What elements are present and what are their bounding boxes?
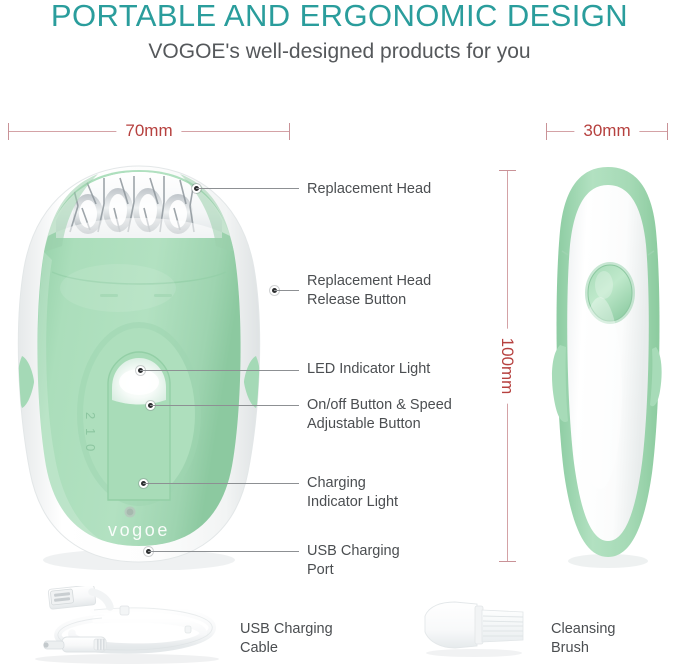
dimension-label-70mm: 70mm bbox=[116, 120, 181, 142]
brush-handle bbox=[425, 602, 477, 648]
callout-line-onoff-speed bbox=[150, 405, 299, 406]
callout-line-replacement-head bbox=[196, 188, 299, 189]
cable-shadow bbox=[35, 654, 219, 664]
brush-shadow bbox=[426, 649, 522, 657]
side-release-tab-left[interactable] bbox=[552, 345, 568, 422]
callout-label-led-indicator: LED Indicator Light bbox=[307, 360, 430, 379]
page-subtitle: VOGOE's well-designed products for you bbox=[0, 40, 679, 64]
speed-scale: 2 1 0 bbox=[83, 412, 98, 451]
accessory-label-usb-cable: USB Charging Cable bbox=[240, 620, 333, 657]
dimension-width-70mm: 70mm bbox=[8, 122, 290, 140]
callout-label-replacement-head-release: Replacement Head Release Button bbox=[307, 272, 431, 309]
cleansing-brush bbox=[415, 598, 533, 660]
dimension-height-100mm: 100mm bbox=[498, 170, 516, 562]
speed-mark-0: 0 bbox=[83, 444, 98, 451]
dimension-label-100mm: 100mm bbox=[497, 329, 517, 404]
callout-label-usb-charging-port: USB Charging Port bbox=[307, 542, 400, 579]
dimension-depth-30mm: 30mm bbox=[546, 122, 668, 140]
brand-wordmark: vogoe bbox=[108, 520, 170, 540]
callout-line-led-indicator bbox=[140, 370, 299, 371]
epilator-side-view bbox=[548, 163, 668, 568]
callout-line-charging-indicator bbox=[143, 483, 299, 484]
product-infographic: PORTABLE AND ERGONOMIC DESIGN VOGOE's we… bbox=[0, 0, 679, 671]
speed-mark-1: 1 bbox=[83, 428, 98, 435]
callout-label-charging-indicator: Charging Indicator Light bbox=[307, 474, 398, 511]
callout-line-replacement-head-release bbox=[274, 290, 299, 291]
callout-label-onoff-speed: On/off Button & Speed Adjustable Button bbox=[307, 396, 452, 433]
dc-barrel-plug bbox=[43, 637, 106, 652]
epilator-front-view: 2 1 0 vogoe bbox=[8, 160, 270, 570]
cable-tie-upper bbox=[120, 606, 129, 615]
dimension-label-30mm: 30mm bbox=[574, 120, 639, 142]
speed-mark-2: 2 bbox=[83, 412, 98, 419]
page-title: PORTABLE AND ERGONOMIC DESIGN bbox=[0, 0, 679, 34]
dimension-cap-left bbox=[546, 123, 547, 140]
cable-tie-lower bbox=[185, 626, 191, 633]
dimension-cap-right bbox=[667, 123, 668, 140]
accessory-label-brush: Cleansing Brush bbox=[551, 620, 616, 657]
usb-charging-cable bbox=[22, 586, 232, 664]
dimension-cap-bottom bbox=[499, 561, 516, 562]
callout-label-replacement-head: Replacement Head bbox=[307, 180, 431, 199]
dimension-cap-right bbox=[289, 123, 290, 140]
dimension-cap-left bbox=[8, 123, 9, 140]
callout-line-usb-charging-port bbox=[148, 551, 299, 552]
dimension-cap-top bbox=[499, 170, 516, 171]
